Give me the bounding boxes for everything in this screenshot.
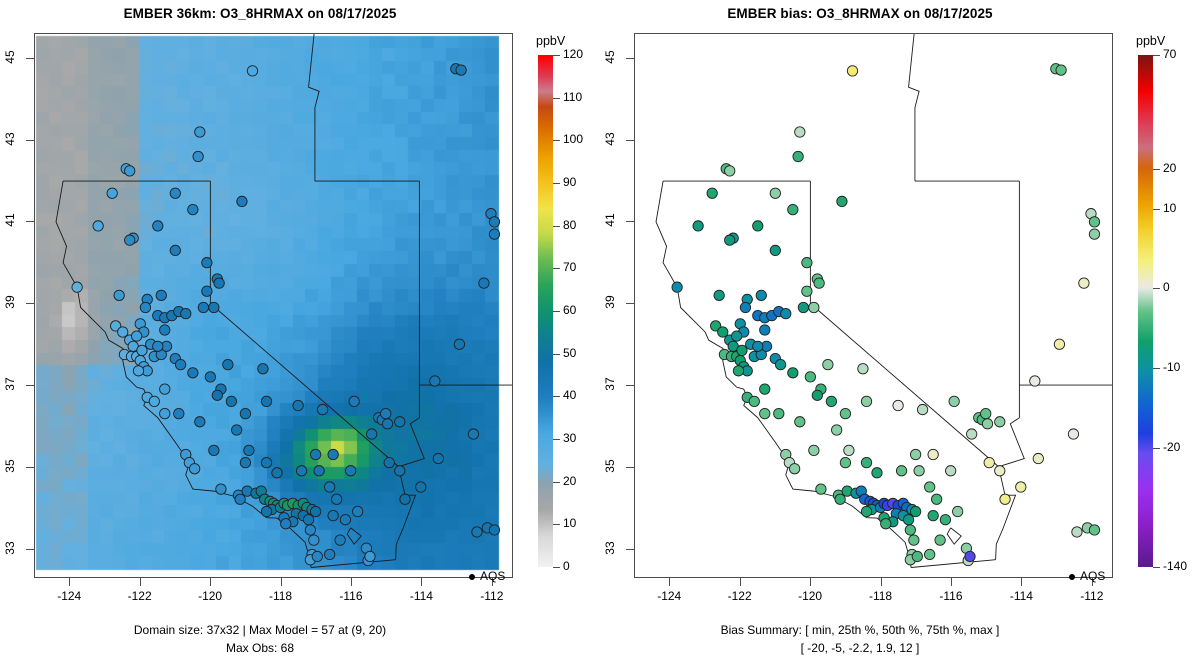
aqs-site-marker[interactable]	[802, 286, 812, 296]
map-boundary-line	[911, 560, 996, 568]
aqs-site-marker[interactable]	[905, 525, 915, 535]
aqs-site-marker[interactable]	[861, 396, 871, 406]
aqs-site-marker[interactable]	[1056, 65, 1066, 75]
aqs-site-marker[interactable]	[395, 417, 405, 427]
aqs-site-marker[interactable]	[835, 494, 845, 504]
colorbar-tick-label-0: 0	[1163, 280, 1170, 294]
x-tick-label--118: -118	[258, 589, 304, 603]
aqs-site-marker[interactable]	[982, 419, 992, 429]
aqs-site-marker[interactable]	[1068, 429, 1078, 439]
aqs-site-marker[interactable]	[795, 417, 805, 427]
aqs-legend-label-bias: AQS	[1080, 569, 1105, 583]
colorbar-tick-40	[553, 396, 560, 397]
aqs-site-marker[interactable]	[912, 551, 922, 561]
aqs-site-marker[interactable]	[924, 482, 934, 492]
aqs-site-marker[interactable]	[468, 429, 478, 439]
aqs-site-marker[interactable]	[928, 510, 938, 520]
y-tick-45	[626, 58, 634, 59]
y-tick-label-39: 39	[603, 282, 617, 322]
colorbar-tick-110	[553, 98, 560, 99]
y-tick-37	[626, 385, 634, 386]
colorbar-tick-label-80: 80	[563, 218, 576, 232]
aqs-site-marker[interactable]	[153, 341, 163, 351]
aqs-site-marker[interactable]	[718, 327, 728, 337]
aqs-site-marker[interactable]	[840, 408, 850, 418]
x-tick-label--120: -120	[787, 589, 833, 603]
map-boundary-line	[347, 528, 361, 544]
aqs-site-marker[interactable]	[125, 166, 135, 176]
aqs-site-marker[interactable]	[72, 282, 82, 292]
aqs-site-marker[interactable]	[231, 425, 241, 435]
x-tick-label--124: -124	[646, 589, 692, 603]
colorbar-tick-label-90: 90	[563, 175, 576, 189]
aqs-site-marker[interactable]	[314, 466, 324, 476]
aqs-site-marker[interactable]	[881, 519, 891, 529]
aqs-site-marker[interactable]	[733, 366, 743, 376]
colorbar-tick-60	[553, 311, 560, 312]
aqs-site-marker[interactable]	[303, 515, 313, 525]
colorbar-tick-label-120: 120	[563, 47, 583, 61]
y-tick-label-39: 39	[3, 282, 17, 322]
aqs-site-marker[interactable]	[456, 65, 466, 75]
aqs-site-marker[interactable]	[261, 396, 271, 406]
aqs-site-marker[interactable]	[910, 506, 920, 516]
aqs-site-marker[interactable]	[240, 408, 250, 418]
x-tick--120	[810, 578, 811, 586]
aqs-site-marker[interactable]	[928, 449, 938, 459]
aqs-site-marker[interactable]	[909, 535, 919, 545]
aqs-site-marker[interactable]	[672, 282, 682, 292]
aqs-site-marker[interactable]	[1000, 494, 1010, 504]
aqs-site-marker[interactable]	[160, 384, 170, 394]
aqs-site-marker[interactable]	[903, 515, 913, 525]
aqs-site-marker[interactable]	[837, 196, 847, 206]
aqs-site-marker[interactable]	[433, 453, 443, 463]
figure-root: EMBER 36km: O3_8HRMAX on 08/17/2025 3335…	[0, 0, 1200, 672]
colorbar-tick-label-30: 30	[563, 431, 576, 445]
aqs-site-marker[interactable]	[831, 425, 841, 435]
aqs-site-marker[interactable]	[202, 258, 212, 268]
x-tick--116	[351, 578, 352, 586]
colorbar-tick-label-70: 70	[1163, 47, 1176, 61]
map-boundary-line	[396, 467, 416, 560]
x-tick--114	[421, 578, 422, 586]
x-tick--118	[281, 578, 282, 586]
aqs-site-marker[interactable]	[753, 221, 763, 231]
aqs-site-marker[interactable]	[209, 302, 219, 312]
aqs-site-marker[interactable]	[198, 302, 208, 312]
aqs-site-marker[interactable]	[861, 506, 871, 516]
aqs-site-marker[interactable]	[725, 235, 735, 245]
model-vector-layer	[35, 34, 512, 577]
y-tick-41	[626, 221, 634, 222]
aqs-site-marker[interactable]	[995, 417, 1005, 427]
colorbar-tick-30	[553, 439, 560, 440]
aqs-site-marker[interactable]	[872, 468, 882, 478]
aqs-site-marker[interactable]	[760, 384, 770, 394]
aqs-site-marker[interactable]	[967, 429, 977, 439]
aqs-site-marker[interactable]	[809, 302, 819, 312]
aqs-site-marker[interactable]	[1016, 482, 1026, 492]
y-tick-label-37: 37	[603, 364, 617, 404]
aqs-site-marker[interactable]	[400, 494, 410, 504]
x-tick--124	[69, 578, 70, 586]
aqs-legend-dot-model	[469, 574, 475, 580]
aqs-site-marker[interactable]	[395, 466, 405, 476]
aqs-site-marker[interactable]	[170, 245, 180, 255]
colorbar-tick-label-20: 20	[563, 474, 576, 488]
map-boundary-line	[996, 467, 1016, 560]
aqs-site-marker[interactable]	[844, 445, 854, 455]
aqs-site-marker[interactable]	[367, 429, 377, 439]
colorbar-tick--10	[1153, 368, 1160, 369]
panel-title-model: EMBER 36km: O3_8HRMAX on 08/17/2025	[0, 6, 520, 21]
colorbar-tick-label-70: 70	[563, 260, 576, 274]
y-tick-label-35: 35	[3, 446, 17, 486]
y-tick-45	[26, 58, 34, 59]
aqs-site-marker[interactable]	[365, 551, 375, 561]
aqs-site-marker[interactable]	[814, 278, 824, 288]
aqs-site-marker[interactable]	[489, 229, 499, 239]
y-tick-label-33: 33	[3, 528, 17, 568]
map-plot-model	[34, 33, 513, 578]
aqs-site-marker[interactable]	[349, 396, 359, 406]
aqs-site-marker[interactable]	[202, 286, 212, 296]
y-tick-label-35: 35	[603, 446, 617, 486]
x-tick-label--118: -118	[858, 589, 904, 603]
x-tick-label--116: -116	[328, 589, 374, 603]
aqs-site-marker[interactable]	[489, 217, 499, 227]
aqs-site-marker[interactable]	[331, 494, 341, 504]
aqs-site-marker[interactable]	[133, 366, 143, 376]
aqs-site-marker[interactable]	[725, 166, 735, 176]
aqs-site-marker[interactable]	[917, 404, 927, 414]
aqs-site-marker[interactable]	[296, 466, 306, 476]
aqs-site-marker[interactable]	[910, 449, 920, 459]
colorbar-tick-label-40: 40	[563, 388, 576, 402]
aqs-site-marker[interactable]	[293, 400, 303, 410]
aqs-site-marker[interactable]	[714, 290, 724, 300]
aqs-site-marker[interactable]	[384, 457, 394, 467]
y-tick-label-37: 37	[3, 364, 17, 404]
aqs-site-marker[interactable]	[247, 66, 257, 76]
aqs-site-marker[interactable]	[924, 549, 934, 559]
colorbar-tick-label-110: 110	[563, 90, 582, 104]
aqs-site-marker[interactable]	[952, 506, 962, 516]
aqs-site-marker[interactable]	[317, 404, 327, 414]
aqs-site-marker[interactable]	[949, 396, 959, 406]
y-tick-33	[626, 549, 634, 550]
footer-max-obs: Max Obs: 68	[0, 641, 520, 655]
colorbar-canvas-model	[538, 55, 553, 567]
aqs-site-marker[interactable]	[310, 506, 320, 516]
aqs-site-marker[interactable]	[174, 408, 184, 418]
map-boundary-line	[210, 304, 398, 467]
aqs-site-marker[interactable]	[479, 278, 489, 288]
aqs-site-marker[interactable]	[324, 482, 334, 492]
aqs-site-marker[interactable]	[740, 302, 750, 312]
colorbar-tick-label-10: 10	[1163, 201, 1176, 215]
map-plot-bias	[634, 33, 1113, 578]
aqs-site-marker[interactable]	[340, 515, 350, 525]
aqs-site-marker[interactable]	[107, 188, 117, 198]
y-tick-label-41: 41	[3, 200, 17, 240]
footer-domain-size: Domain size: 37x32 | Max Model = 57 at (…	[0, 623, 520, 637]
aqs-site-marker[interactable]	[170, 188, 180, 198]
aqs-site-marker[interactable]	[489, 525, 499, 535]
x-tick--122	[140, 578, 141, 586]
x-tick-label--124: -124	[46, 589, 92, 603]
aqs-site-marker[interactable]	[816, 484, 826, 494]
aqs-site-marker[interactable]	[153, 221, 163, 231]
colorbar-tick-100	[553, 140, 560, 141]
aqs-site-marker[interactable]	[737, 345, 747, 355]
x-tick--114	[1021, 578, 1022, 586]
y-tick-33	[26, 549, 34, 550]
aqs-site-marker[interactable]	[149, 396, 159, 406]
aqs-site-marker[interactable]	[261, 506, 271, 516]
aqs-site-marker[interactable]	[693, 221, 703, 231]
aqs-site-marker[interactable]	[312, 551, 322, 561]
aqs-site-marker[interactable]	[237, 196, 247, 206]
aqs-site-marker[interactable]	[93, 221, 103, 231]
aqs-site-marker[interactable]	[798, 302, 808, 312]
aqs-site-marker[interactable]	[823, 359, 833, 369]
aqs-site-marker[interactable]	[131, 331, 141, 341]
aqs-site-marker[interactable]	[188, 368, 198, 378]
aqs-site-marker[interactable]	[212, 390, 222, 400]
aqs-site-marker[interactable]	[1072, 527, 1082, 537]
aqs-site-marker[interactable]	[858, 364, 868, 374]
aqs-site-marker[interactable]	[272, 468, 282, 478]
colorbar-tick-label--10: -10	[1163, 360, 1180, 374]
aqs-site-marker[interactable]	[775, 359, 785, 369]
aqs-site-marker[interactable]	[945, 466, 955, 476]
aqs-site-marker[interactable]	[826, 396, 836, 406]
aqs-site-marker[interactable]	[305, 525, 315, 535]
colorbar-tick-label--140: -140	[1163, 559, 1187, 573]
aqs-site-marker[interactable]	[788, 368, 798, 378]
aqs-site-marker[interactable]	[965, 551, 975, 561]
aqs-site-marker[interactable]	[1030, 376, 1040, 386]
aqs-legend-dot-bias	[1069, 574, 1075, 580]
colorbar-tick-label-50: 50	[563, 346, 576, 360]
panel-model: EMBER 36km: O3_8HRMAX on 08/17/2025 3335…	[0, 0, 600, 672]
x-tick-label--120: -120	[187, 589, 233, 603]
aqs-site-marker[interactable]	[188, 204, 198, 214]
colorbar-canvas-bias	[1138, 55, 1153, 567]
colorbar-tick-120	[553, 55, 560, 56]
aqs-site-marker[interactable]	[805, 372, 815, 382]
panel-title-bias: EMBER bias: O3_8HRMAX on 08/17/2025	[600, 6, 1120, 21]
aqs-site-marker[interactable]	[216, 484, 226, 494]
x-tick--120	[210, 578, 211, 586]
x-tick--122	[740, 578, 741, 586]
aqs-site-marker[interactable]	[981, 408, 991, 418]
aqs-legend-label-model: AQS	[480, 569, 505, 583]
aqs-site-marker[interactable]	[789, 464, 799, 474]
aqs-site-marker[interactable]	[812, 390, 822, 400]
aqs-site-marker[interactable]	[802, 258, 812, 268]
aqs-site-marker[interactable]	[382, 419, 392, 429]
map-boundary-line	[311, 560, 396, 568]
aqs-site-marker[interactable]	[381, 408, 391, 418]
aqs-site-marker[interactable]	[137, 345, 147, 355]
aqs-site-marker[interactable]	[707, 188, 717, 198]
aqs-site-marker[interactable]	[840, 457, 850, 467]
aqs-site-marker[interactable]	[1033, 453, 1043, 463]
x-tick--116	[951, 578, 952, 586]
y-tick-39	[626, 303, 634, 304]
aqs-site-marker[interactable]	[861, 457, 871, 467]
x-tick-label--114: -114	[998, 589, 1044, 603]
aqs-site-marker[interactable]	[156, 290, 166, 300]
aqs-site-marker[interactable]	[893, 400, 903, 410]
aqs-site-marker[interactable]	[774, 408, 784, 418]
aqs-site-marker[interactable]	[756, 290, 766, 300]
aqs-site-marker[interactable]	[1079, 278, 1089, 288]
aqs-site-marker[interactable]	[995, 466, 1005, 476]
x-tick-label--112: -112	[1069, 589, 1115, 603]
aqs-site-marker[interactable]	[195, 417, 205, 427]
aqs-site-marker[interactable]	[749, 396, 759, 406]
aqs-site-marker[interactable]	[472, 527, 482, 537]
x-tick--124	[669, 578, 670, 586]
y-tick-label-45: 45	[603, 37, 617, 77]
y-tick-label-43: 43	[603, 119, 617, 159]
aqs-site-marker[interactable]	[175, 359, 185, 369]
aqs-site-marker[interactable]	[160, 325, 170, 335]
aqs-site-marker[interactable]	[281, 519, 291, 529]
map-boundary-line	[909, 34, 920, 181]
map-boundary-line	[947, 528, 961, 544]
aqs-site-marker[interactable]	[454, 339, 464, 349]
aqs-site-marker[interactable]	[309, 535, 319, 545]
colorbar-tick-label-100: 100	[563, 132, 583, 146]
panel-bias: EMBER bias: O3_8HRMAX on 08/17/2025 3335…	[600, 0, 1200, 672]
colorbar-tick-0	[553, 567, 560, 568]
aqs-site-marker[interactable]	[261, 457, 271, 467]
aqs-site-marker[interactable]	[770, 245, 780, 255]
aqs-site-marker[interactable]	[781, 308, 791, 318]
aqs-site-marker[interactable]	[324, 549, 334, 559]
aqs-site-marker[interactable]	[940, 515, 950, 525]
aqs-site-marker[interactable]	[847, 66, 857, 76]
aqs-site-marker[interactable]	[795, 127, 805, 137]
y-tick-label-41: 41	[603, 200, 617, 240]
y-tick-41	[26, 221, 34, 222]
aqs-site-marker[interactable]	[205, 372, 215, 382]
aqs-site-marker[interactable]	[753, 341, 763, 351]
y-tick-43	[626, 140, 634, 141]
aqs-site-marker[interactable]	[195, 127, 205, 137]
colorbar-tick-20	[553, 482, 560, 483]
x-tick-label--116: -116	[928, 589, 974, 603]
aqs-site-marker[interactable]	[189, 464, 199, 474]
colorbar-tick-label-20: 20	[1163, 161, 1176, 175]
y-tick-label-45: 45	[3, 37, 17, 77]
aqs-site-marker[interactable]	[209, 445, 219, 455]
colorbar-tick-label-60: 60	[563, 303, 576, 317]
aqs-site-marker[interactable]	[118, 327, 128, 337]
colorbar-tick-80	[553, 226, 560, 227]
y-tick-35	[26, 467, 34, 468]
x-tick--118	[881, 578, 882, 586]
aqs-site-marker[interactable]	[430, 376, 440, 386]
colorbar-gradient-bias	[1138, 55, 1153, 567]
aqs-site-marker[interactable]	[328, 510, 338, 520]
colorbar-tick-70	[1153, 55, 1160, 56]
aqs-site-marker[interactable]	[160, 408, 170, 418]
x-tick-label--112: -112	[469, 589, 515, 603]
footer-bias-summary-header: Bias Summary: [ min, 25th %, 50th %, 75t…	[600, 623, 1120, 637]
aqs-site-marker[interactable]	[1089, 217, 1099, 227]
aqs-site-marker[interactable]	[226, 396, 236, 406]
aqs-site-marker[interactable]	[335, 535, 345, 545]
colorbar-tick--140	[1153, 567, 1160, 568]
aqs-site-marker[interactable]	[352, 506, 362, 516]
aqs-site-marker[interactable]	[244, 445, 254, 455]
colorbar-tick-label-0: 0	[563, 559, 570, 573]
aqs-site-marker[interactable]	[240, 457, 250, 467]
colorbar-tick-0	[1153, 288, 1160, 289]
y-tick-label-43: 43	[3, 119, 17, 159]
aqs-site-marker[interactable]	[770, 188, 780, 198]
colorbar-tick-70	[553, 268, 560, 269]
aqs-site-marker[interactable]	[181, 308, 191, 318]
aqs-site-marker[interactable]	[1089, 229, 1099, 239]
aqs-site-marker[interactable]	[193, 151, 203, 161]
aqs-site-marker[interactable]	[788, 204, 798, 214]
aqs-site-marker[interactable]	[793, 151, 803, 161]
aqs-site-marker[interactable]	[731, 331, 741, 341]
aqs-site-marker[interactable]	[258, 364, 268, 374]
aqs-site-marker[interactable]	[896, 466, 906, 476]
aqs-site-marker[interactable]	[140, 302, 150, 312]
aqs-site-marker[interactable]	[345, 466, 355, 476]
colorbar-tick--20	[1153, 448, 1160, 449]
colorbar-gradient-model	[538, 55, 553, 567]
aqs-site-marker[interactable]	[1054, 339, 1064, 349]
colorbar-unit-model: ppbV	[536, 34, 565, 48]
bias-vector-layer	[635, 34, 1112, 577]
aqs-site-marker[interactable]	[114, 290, 124, 300]
aqs-site-marker[interactable]	[914, 466, 924, 476]
x-tick-label--114: -114	[398, 589, 444, 603]
aqs-site-marker[interactable]	[310, 449, 320, 459]
y-tick-37	[26, 385, 34, 386]
aqs-site-marker[interactable]	[235, 494, 245, 504]
map-boundary-line	[309, 34, 320, 181]
aqs-site-marker[interactable]	[760, 325, 770, 335]
colorbar-tick-label--20: -20	[1163, 440, 1180, 454]
aqs-site-marker[interactable]	[760, 408, 770, 418]
aqs-site-marker[interactable]	[1089, 525, 1099, 535]
aqs-site-marker[interactable]	[214, 278, 224, 288]
aqs-site-marker[interactable]	[328, 449, 338, 459]
aqs-site-marker[interactable]	[223, 359, 233, 369]
aqs-site-marker[interactable]	[935, 535, 945, 545]
aqs-site-marker[interactable]	[809, 445, 819, 455]
aqs-site-marker[interactable]	[125, 235, 135, 245]
aqs-site-marker[interactable]	[416, 482, 426, 492]
colorbar-tick-10	[1153, 209, 1160, 210]
colorbar-tick-50	[553, 354, 560, 355]
aqs-site-marker[interactable]	[931, 494, 941, 504]
colorbar-unit-bias: ppbV	[1136, 34, 1165, 48]
y-tick-39	[26, 303, 34, 304]
aqs-site-marker[interactable]	[984, 457, 994, 467]
